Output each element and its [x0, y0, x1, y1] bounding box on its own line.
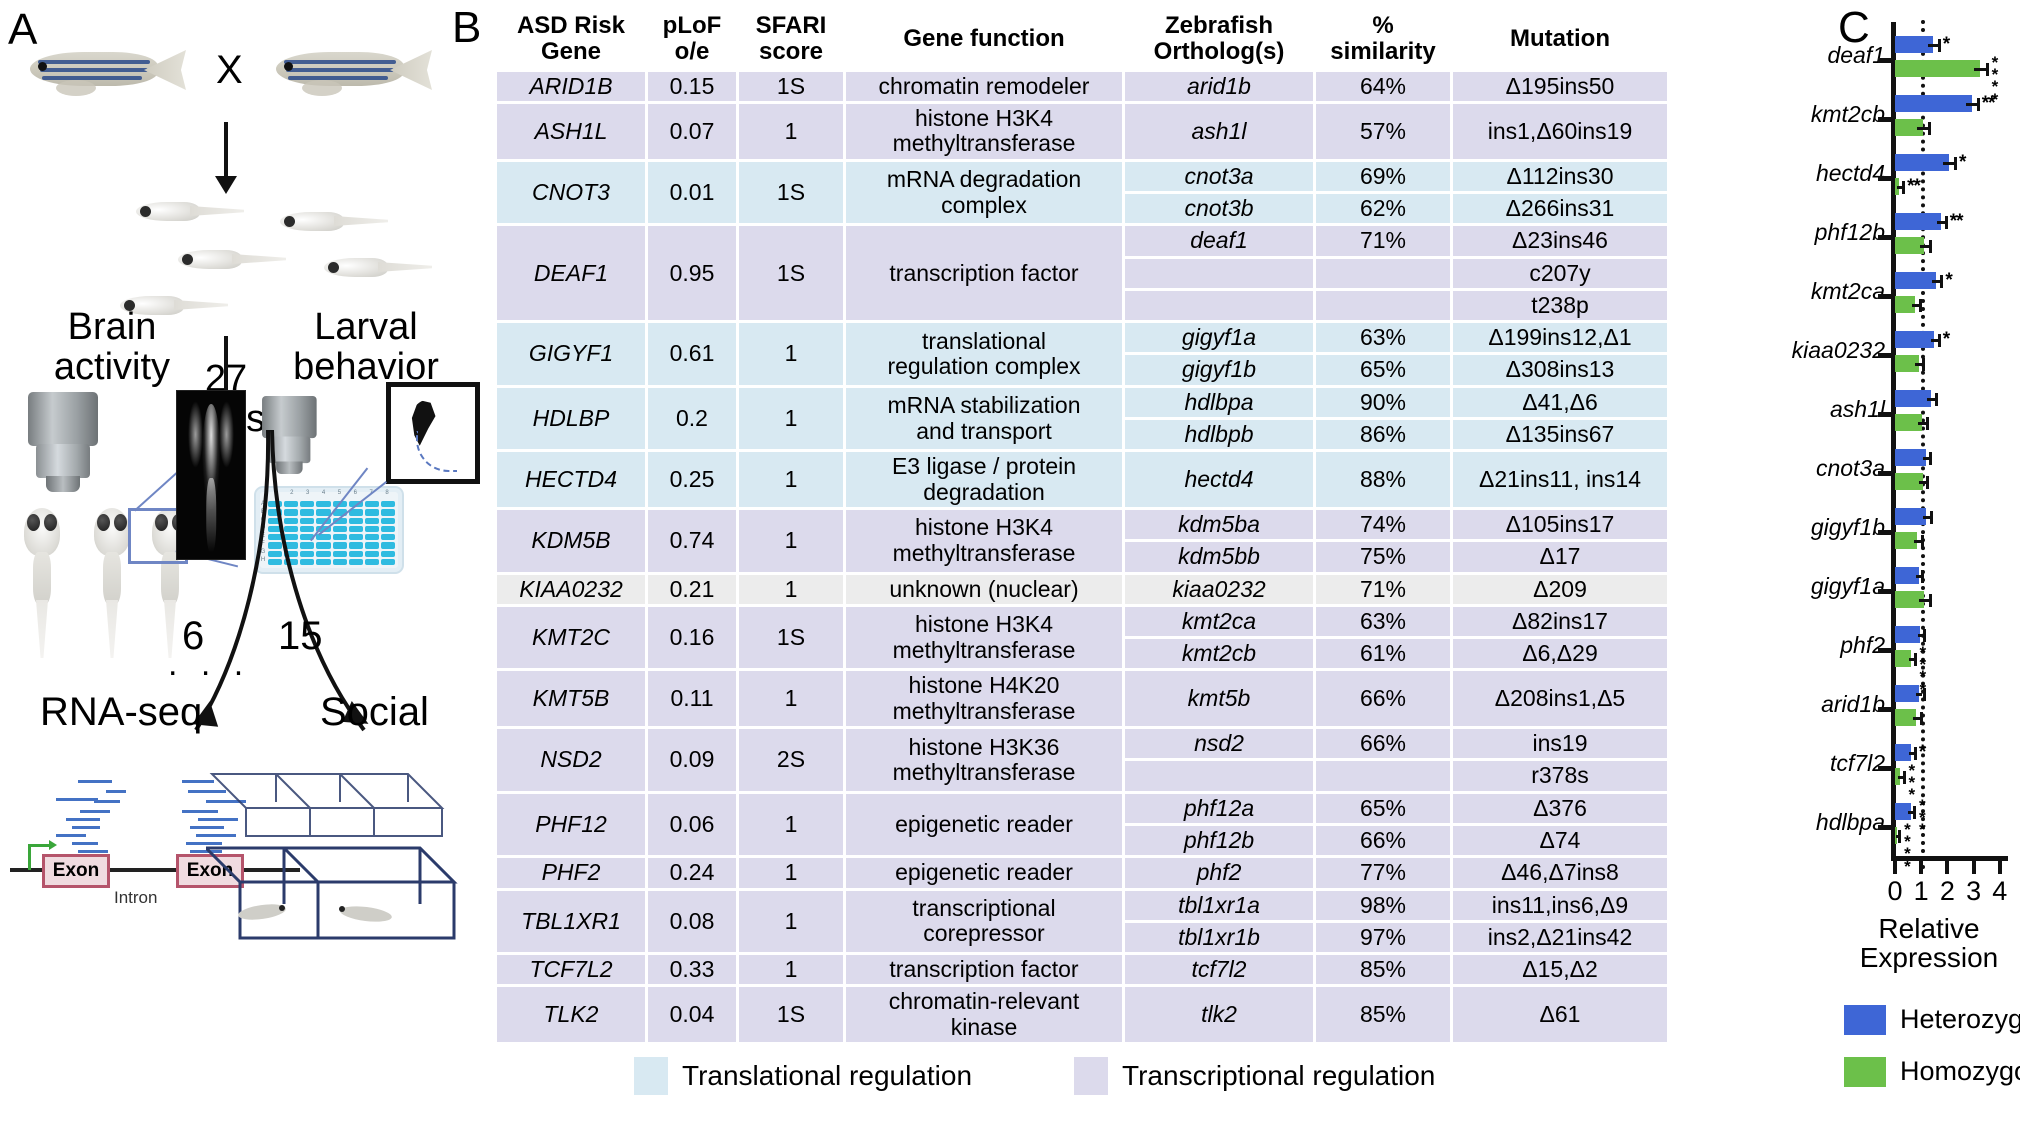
column-header-2: SFARIscore — [739, 9, 843, 69]
errorbar-cap — [1926, 417, 1929, 430]
cell-ploe: 0.25 — [648, 452, 736, 507]
table-row: HECTD40.251E3 ligase / proteindegradatio… — [497, 452, 1667, 507]
cell-name — [1125, 761, 1313, 790]
cell-sfari: 1 — [739, 323, 843, 385]
cell-mutation: Δ376 — [1453, 794, 1667, 823]
cell-gene: GIGYF1 — [497, 323, 645, 385]
larva-3 — [170, 244, 288, 274]
cell-name: tbl1xr1a — [1125, 891, 1313, 920]
cell-name: ash1l — [1125, 104, 1313, 159]
cell-ploe: 0.07 — [648, 104, 736, 159]
errorbar-cnot3a-hom — [1919, 481, 1926, 484]
cell-function: translationalregulation complex — [846, 323, 1122, 385]
y-tick — [1878, 471, 1892, 476]
cell-name: hdlbpb — [1125, 420, 1313, 449]
bar-hectd4-het — [1895, 154, 1949, 171]
cell-mutation: Δ135ins67 — [1453, 420, 1667, 449]
gene-label-kmt2ca: kmt2ca — [1811, 278, 1885, 305]
table-row: KMT2C0.161Shistone H3K4methyltransferase… — [497, 607, 1667, 636]
cell-ploe: 0.2 — [648, 388, 736, 450]
y-tick — [1878, 353, 1892, 358]
cell-sfari: 1S — [739, 226, 843, 320]
cell-mutation: ins19 — [1453, 729, 1667, 758]
legend-swatch-icon — [1074, 1057, 1108, 1095]
cell-sfari: 2S — [739, 729, 843, 791]
significance-stars-phf12b-het: ** — [1950, 211, 1963, 233]
exon-1-label: Exon — [42, 854, 110, 888]
cell-name: phf12a — [1125, 794, 1313, 823]
gene-label-phf2: phf2 — [1840, 632, 1885, 659]
chart-legend-item-homozygous: Homozygous — [1844, 1056, 2020, 1087]
errorbar-cap — [1986, 63, 1989, 76]
cell-name: cnot3b — [1125, 194, 1313, 223]
table-row: ASH1L0.071histone H3K4methyltransferasea… — [497, 104, 1667, 159]
significance-stars-kmt2cb-het: ** — [1982, 93, 1995, 115]
cell-similarity: 57% — [1316, 104, 1450, 159]
cell-ploe: 0.74 — [648, 510, 736, 572]
x-tick-label-2: 2 — [1934, 876, 1960, 907]
table-row: KIAA02320.211unknown (nuclear)kiaa023271… — [497, 575, 1667, 604]
panel-a-schematic: A X Brain activity Larval behavior 27 l — [0, 0, 470, 1126]
cell-name: kmt2ca — [1125, 607, 1313, 636]
cell-similarity: 98% — [1316, 891, 1450, 920]
errorbar-gigyf1b-het — [1923, 516, 1930, 519]
table-row: DEAF10.951Stranscription factordeaf171%Δ… — [497, 226, 1667, 255]
errorbar-phf12b-het — [1937, 221, 1945, 224]
errorbar-cap — [1938, 39, 1941, 52]
cell-name: gigyf1b — [1125, 355, 1313, 384]
cell-function: unknown (nuclear) — [846, 575, 1122, 604]
cell-gene: TCF7L2 — [497, 955, 645, 984]
cell-function: histone H4K20methyltransferase — [846, 671, 1122, 726]
cell-mutation: Δ105ins17 — [1453, 510, 1667, 539]
errorbar-cap — [1921, 570, 1924, 583]
cell-similarity: 75% — [1316, 542, 1450, 571]
cell-ploe: 0.95 — [648, 226, 736, 320]
cell-function: histone H3K4methyltransferase — [846, 510, 1122, 572]
cell-sfari: 1S — [739, 72, 843, 101]
column-header-1: pLoFo/e — [648, 9, 736, 69]
table-body: ARID1B0.151Schromatin remodelerarid1b64%… — [497, 72, 1667, 1042]
cell-similarity: 65% — [1316, 355, 1450, 384]
bar-deaf1-hom — [1895, 60, 1980, 77]
significance-stars-tcf7l2-het: * — [1919, 742, 1925, 764]
cell-name: phf2 — [1125, 858, 1313, 887]
cell-name: kdm5bb — [1125, 542, 1313, 571]
x-tick-label-0: 0 — [1882, 876, 1908, 907]
table-row: ARID1B0.151Schromatin remodelerarid1b64%… — [497, 72, 1667, 101]
y-tick — [1878, 176, 1892, 181]
cell-mutation: Δ23ins46 — [1453, 226, 1667, 255]
cell-gene: TBL1XR1 — [497, 891, 645, 953]
errorbar-cap — [1954, 157, 1957, 170]
cell-mutation: Δ15,Δ2 — [1453, 955, 1667, 984]
cell-mutation: Δ6,Δ29 — [1453, 639, 1667, 668]
errorbar-arid1b-hom — [1913, 717, 1920, 720]
bar-phf2-het — [1895, 626, 1920, 643]
parent-fish-right — [262, 38, 432, 102]
errorbar-kiaa0232-het — [1931, 339, 1938, 342]
cell-function: chromatin remodeler — [846, 72, 1122, 101]
table-row: HDLBP0.21mRNA stabilizationand transport… — [497, 388, 1667, 417]
x-tick-4 — [1998, 861, 2002, 874]
cell-ploe: 0.11 — [648, 671, 736, 726]
cell-similarity: 90% — [1316, 388, 1450, 417]
cell-name: deaf1 — [1125, 226, 1313, 255]
cell-mutation: Δ17 — [1453, 542, 1667, 571]
cell-similarity — [1316, 259, 1450, 288]
cell-similarity: 71% — [1316, 226, 1450, 255]
cell-name: kiaa0232 — [1125, 575, 1313, 604]
chart-legend-swatch-icon — [1844, 1057, 1886, 1087]
cell-mutation: Δ209 — [1453, 575, 1667, 604]
cell-similarity: 88% — [1316, 452, 1450, 507]
y-tick — [1878, 235, 1892, 240]
y-tick — [1878, 707, 1892, 712]
cell-name: arid1b — [1125, 72, 1313, 101]
cell-mutation: Δ82ins17 — [1453, 607, 1667, 636]
errorbar-gigyf1a-hom — [1919, 599, 1928, 602]
cell-gene: ARID1B — [497, 72, 645, 101]
y-tick — [1878, 58, 1892, 63]
significance-stars-hectd4-hom: ** — [1907, 176, 1920, 198]
cell-ploe: 0.61 — [648, 323, 736, 385]
significance-stars-deaf1-het: * — [1943, 34, 1949, 56]
cell-function: E3 ligase / proteindegradation — [846, 452, 1122, 507]
cell-mutation: Δ61 — [1453, 987, 1667, 1042]
errorbar-cap — [1926, 476, 1929, 489]
cell-similarity: 74% — [1316, 510, 1450, 539]
cell-similarity — [1316, 761, 1450, 790]
dorsal-larva-1 — [16, 508, 68, 658]
cell-name: hectd4 — [1125, 452, 1313, 507]
table-row: TLK20.041Schromatin-relevantkinasetlk285… — [497, 987, 1667, 1042]
column-header-6: Mutation — [1453, 9, 1667, 69]
x-tick-2 — [1945, 861, 1949, 874]
cell-ploe: 0.01 — [648, 162, 736, 224]
cell-sfari: 1 — [739, 955, 843, 984]
table-row: NSD20.092Shistone H3K36methyltransferase… — [497, 729, 1667, 758]
cell-ploe: 0.08 — [648, 891, 736, 953]
branch-count-left: 6 — [182, 614, 204, 659]
table-category-legend: Translational regulationTranscriptional … — [494, 1057, 1670, 1095]
cell-function: mRNA stabilizationand transport — [846, 388, 1122, 450]
bar-kmt2cb-het — [1895, 95, 1972, 112]
larva-4 — [316, 252, 434, 282]
cell-similarity: 62% — [1316, 194, 1450, 223]
y-tick — [1878, 412, 1892, 417]
cell-similarity: 65% — [1316, 794, 1450, 823]
cell-mutation: Δ74 — [1453, 826, 1667, 855]
cell-similarity: 85% — [1316, 955, 1450, 984]
errorbar-cap — [1903, 771, 1906, 784]
significance-stars-hectd4-het: * — [1959, 152, 1965, 174]
errorbar-cap — [1898, 830, 1901, 843]
errorbar-phf12b-hom — [1920, 245, 1929, 248]
cell-mutation: Δ195ins50 — [1453, 72, 1667, 101]
gene-label-deaf1: deaf1 — [1827, 42, 1885, 69]
gene-label-gigyf1b: gigyf1b — [1811, 514, 1885, 541]
legend-swatch-icon — [634, 1057, 668, 1095]
cell-similarity: 63% — [1316, 323, 1450, 352]
cell-mutation: Δ208ins1,Δ5 — [1453, 671, 1667, 726]
x-tick-0 — [1893, 861, 1897, 874]
cell-mutation: ins2,Δ21ins42 — [1453, 923, 1667, 952]
cell-gene: KMT5B — [497, 671, 645, 726]
errorbar-cap — [1938, 334, 1941, 347]
errorbar-cap — [1919, 299, 1922, 312]
cell-gene: KMT2C — [497, 607, 645, 669]
gene-label-ash1l: ash1l — [1830, 396, 1885, 423]
errorbar-ash1l-het — [1927, 398, 1935, 401]
cell-ploe: 0.15 — [648, 72, 736, 101]
y-tick — [1878, 766, 1892, 771]
cell-name — [1125, 259, 1313, 288]
errorbar-cnot3a-het — [1923, 457, 1930, 460]
y-tick — [1878, 589, 1892, 594]
gene-label-cnot3a: cnot3a — [1816, 455, 1885, 482]
cell-mutation: Δ41,Δ6 — [1453, 388, 1667, 417]
cell-mutation: t238p — [1453, 291, 1667, 320]
x-tick-label-4: 4 — [1987, 876, 2013, 907]
chart-legend-item-heterozygous: Heterozygous — [1844, 1004, 2020, 1035]
gene-label-hdlbpa: hdlbpa — [1816, 809, 1885, 836]
cell-similarity — [1316, 291, 1450, 320]
errorbar-kmt2cb-hom — [1917, 127, 1929, 130]
cell-function: histone H3K4methyltransferase — [846, 104, 1122, 159]
cell-function: histone H3K36methyltransferase — [846, 729, 1122, 791]
larval-behavior-label: Larval behavior — [266, 308, 466, 388]
cell-function: transcriptionalcorepressor — [846, 891, 1122, 953]
social-assay-tanks — [206, 752, 468, 942]
cell-sfari: 1 — [739, 794, 843, 856]
cell-gene: TLK2 — [497, 987, 645, 1042]
cell-name: tlk2 — [1125, 987, 1313, 1042]
cell-sfari: 1S — [739, 987, 843, 1042]
cell-similarity: 71% — [1316, 575, 1450, 604]
cell-sfari: 1 — [739, 452, 843, 507]
cell-mutation: r378s — [1453, 761, 1667, 790]
chart-legend-swatch-icon — [1844, 1005, 1886, 1035]
y-axis-line — [1891, 22, 1896, 856]
cell-gene: CNOT3 — [497, 162, 645, 224]
cell-gene: NSD2 — [497, 729, 645, 791]
panel-b-letter: B — [452, 6, 481, 50]
cell-function: transcription factor — [846, 226, 1122, 320]
panel-b-gene-table: ASD RiskGenepLoFo/eSFARIscoreGene functi… — [494, 6, 1670, 1095]
errorbar-cap — [1940, 275, 1943, 288]
cell-sfari: 1 — [739, 388, 843, 450]
bar-phf12b-het — [1895, 213, 1941, 230]
chart-legend-label: Homozygous — [1900, 1056, 2020, 1087]
cell-mutation: ins11,ins6,Δ9 — [1453, 891, 1667, 920]
cell-sfari: 1S — [739, 162, 843, 224]
y-tick — [1878, 648, 1892, 653]
cell-sfari: 1 — [739, 104, 843, 159]
table-row: TCF7L20.331transcription factortcf7l285%… — [497, 955, 1667, 984]
significance-stars-hdlbpa-hom: **** — [1902, 824, 1912, 873]
cell-ploe: 0.33 — [648, 955, 736, 984]
cell-gene: KDM5B — [497, 510, 645, 572]
legend-item-1: Transcriptional regulation — [1074, 1057, 1435, 1095]
cell-mutation: Δ199ins12,Δ1 — [1453, 323, 1667, 352]
cell-sfari: 1 — [739, 858, 843, 887]
column-header-3: Gene function — [846, 9, 1122, 69]
cell-ploe: 0.16 — [648, 607, 736, 669]
larva-2 — [272, 206, 390, 236]
errorbar-gigyf1b-hom — [1914, 540, 1921, 543]
legend-label: Translational regulation — [682, 1060, 972, 1092]
x-tick-3 — [1972, 861, 1976, 874]
column-header-0: ASD RiskGene — [497, 9, 645, 69]
errorbar-cap — [1923, 629, 1926, 642]
gene-label-kiaa0232: kiaa0232 — [1792, 337, 1885, 364]
cell-function: chromatin-relevantkinase — [846, 987, 1122, 1042]
cell-similarity: 61% — [1316, 639, 1450, 668]
cell-name: gigyf1a — [1125, 323, 1313, 352]
panel-c-expression-chart: deaf1*****kmt2cb**hectd4***phf12b**kmt2c… — [1838, 6, 2020, 1126]
errorbar-kmt2ca-hom — [1912, 304, 1919, 307]
gene-label-kmt2cb: kmt2cb — [1811, 101, 1885, 128]
parent-fish-left — [16, 38, 186, 102]
errorbar-cap — [1929, 452, 1932, 465]
cell-name: tcf7l2 — [1125, 955, 1313, 984]
cell-mutation: c207y — [1453, 259, 1667, 288]
errorbar-hectd4-het — [1943, 162, 1953, 165]
social-label: Social — [320, 690, 429, 735]
cell-name: kmt5b — [1125, 671, 1313, 726]
y-tick — [1878, 530, 1892, 535]
errorbar-deaf1-het — [1928, 44, 1937, 47]
y-tick — [1878, 825, 1892, 830]
errorbar-cap — [1930, 511, 1933, 524]
x-tick-1 — [1919, 861, 1923, 874]
column-header-4: ZebrafishOrtholog(s) — [1125, 9, 1313, 69]
bar-ash1l-het — [1895, 390, 1931, 407]
rnaseq-label: RNA-seq — [40, 690, 202, 735]
chart-legend-label: Heterozygous — [1900, 1004, 2020, 1035]
gene-label-gigyf1a: gigyf1a — [1811, 573, 1885, 600]
errorbar-cap — [1928, 122, 1931, 135]
errorbar-cap — [1923, 688, 1926, 701]
cell-name: nsd2 — [1125, 729, 1313, 758]
cell-sfari: 1 — [739, 891, 843, 953]
cell-similarity: 66% — [1316, 729, 1450, 758]
gene-label-hectd4: hectd4 — [1816, 160, 1885, 187]
errorbar-cap — [1914, 747, 1917, 760]
significance-stars-kiaa0232-het: * — [1943, 329, 1949, 351]
cell-function: mRNA degradationcomplex — [846, 162, 1122, 224]
intron-label: Intron — [114, 888, 157, 908]
errorbar-cap — [1914, 653, 1917, 666]
cell-name: cnot3a — [1125, 162, 1313, 191]
cell-ploe: 0.24 — [648, 858, 736, 887]
x-tick-label-1: 1 — [1908, 876, 1934, 907]
bar-kiaa0232-het — [1895, 331, 1934, 348]
errorbar-cap — [1935, 393, 1938, 406]
branch-count-right: 15 — [278, 614, 323, 659]
errorbar-kmt2ca-het — [1932, 280, 1940, 283]
table-row: TBL1XR10.081transcriptionalcorepressortb… — [497, 891, 1667, 920]
cell-similarity: 63% — [1316, 607, 1450, 636]
cell-similarity: 64% — [1316, 72, 1450, 101]
table-row: PHF20.241epigenetic readerphf277%Δ46,Δ7i… — [497, 858, 1667, 887]
cell-sfari: 1 — [739, 510, 843, 572]
gene-label-arid1b: arid1b — [1821, 691, 1885, 718]
cell-gene: HECTD4 — [497, 452, 645, 507]
table-row: CNOT30.011SmRNA degradationcomplexcnot3a… — [497, 162, 1667, 191]
larva-1 — [128, 196, 246, 226]
errorbar-cap — [1922, 358, 1925, 371]
cell-name: kmt2cb — [1125, 639, 1313, 668]
table-row: KMT5B0.111histone H4K20methyltransferase… — [497, 671, 1667, 726]
cell-similarity: 97% — [1316, 923, 1450, 952]
cell-mutation: ins1,Δ60ins19 — [1453, 104, 1667, 159]
x-axis-line — [1891, 856, 2008, 861]
errorbar-deaf1-hom — [1974, 68, 1986, 71]
cell-ploe: 0.06 — [648, 794, 736, 856]
y-tick — [1878, 117, 1892, 122]
cell-gene: DEAF1 — [497, 226, 645, 320]
cell-function: epigenetic reader — [846, 794, 1122, 856]
asd-risk-gene-table: ASD RiskGenepLoFo/eSFARIscoreGene functi… — [494, 6, 1670, 1045]
cell-name: tbl1xr1b — [1125, 923, 1313, 952]
x-axis-label: RelativeExpression — [1838, 914, 2020, 973]
cell-function: transcription factor — [846, 955, 1122, 984]
cell-similarity: 66% — [1316, 671, 1450, 726]
cell-similarity: 85% — [1316, 987, 1450, 1042]
cell-similarity: 77% — [1316, 858, 1450, 887]
cell-sfari: 1S — [739, 607, 843, 669]
errorbar-cap — [1945, 216, 1948, 229]
column-header-5: %similarity — [1316, 9, 1450, 69]
table-row: PHF120.061epigenetic readerphf12a65%Δ376 — [497, 794, 1667, 823]
errorbar-cap — [1902, 181, 1905, 194]
y-tick — [1878, 294, 1892, 299]
legend-label: Transcriptional regulation — [1122, 1060, 1435, 1092]
table-header-row: ASD RiskGenepLoFo/eSFARIscoreGene functi… — [497, 9, 1667, 69]
significance-stars-hdlbpa-het: *** — [1917, 800, 1927, 837]
cell-gene: ASH1L — [497, 104, 645, 159]
bar-cnot3a-het — [1895, 449, 1926, 466]
gene-label-phf12b: phf12b — [1815, 219, 1885, 246]
x-tick-label-3: 3 — [1961, 876, 1987, 907]
microscope-icon — [10, 392, 120, 496]
cell-gene: HDLBP — [497, 388, 645, 450]
table-row: GIGYF10.611translationalregulation compl… — [497, 323, 1667, 352]
cell-sfari: 1 — [739, 575, 843, 604]
cell-name — [1125, 291, 1313, 320]
cell-similarity: 86% — [1316, 420, 1450, 449]
errorbar-ash1l-hom — [1918, 422, 1926, 425]
cell-function: histone H3K4methyltransferase — [846, 607, 1122, 669]
cell-mutation: Δ308ins13 — [1453, 355, 1667, 384]
errorbar-cap — [1977, 98, 1980, 111]
cell-mutation: Δ46,Δ7ins8 — [1453, 858, 1667, 887]
cell-name: phf12b — [1125, 826, 1313, 855]
table-row: KDM5B0.741histone H3K4methyltransferasek… — [497, 510, 1667, 539]
cell-function: epigenetic reader — [846, 858, 1122, 887]
errorbar-cap — [1913, 806, 1916, 819]
cell-mutation: Δ21ins11, ins14 — [1453, 452, 1667, 507]
bar-gigyf1b-het — [1895, 508, 1926, 525]
cell-similarity: 66% — [1316, 826, 1450, 855]
errorbar-kiaa0232-hom — [1915, 363, 1922, 366]
cell-name: hdlbpa — [1125, 388, 1313, 417]
bar-kmt2ca-het — [1895, 272, 1936, 289]
cell-sfari: 1 — [739, 671, 843, 726]
significance-stars-kmt2ca-het: * — [1945, 270, 1951, 292]
